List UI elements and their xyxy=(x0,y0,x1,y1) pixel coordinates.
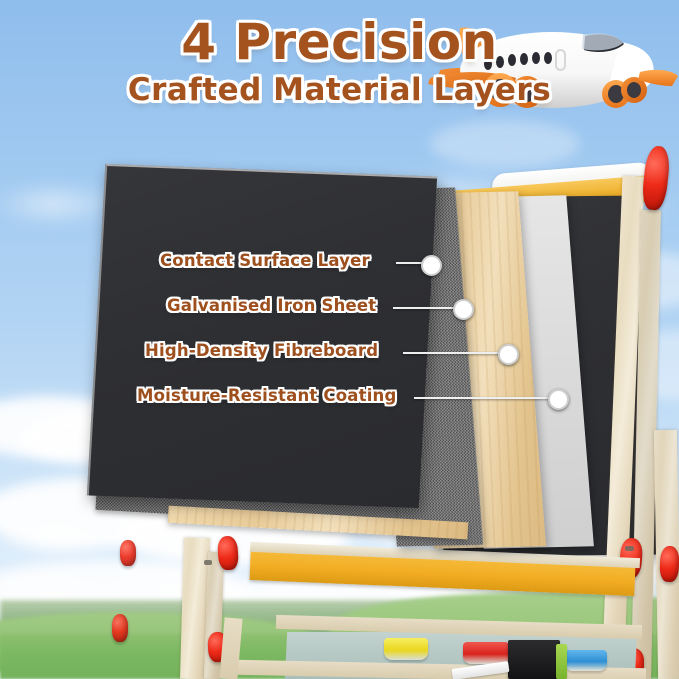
paint-pot-blue[interactable] xyxy=(565,650,607,671)
layer-contact-surface xyxy=(87,164,437,508)
callout-leader-2 xyxy=(393,307,458,309)
callout-dot-1[interactable] xyxy=(421,255,442,276)
screw-right-upper xyxy=(625,546,634,551)
callout-leader-3 xyxy=(403,352,503,354)
callout-label-1: Contact Surface Layer xyxy=(160,251,370,270)
callout-dot-4[interactable] xyxy=(548,389,569,410)
callout-label-4: Moisture-Resistant Coating xyxy=(137,386,397,405)
callout-leader-4 xyxy=(414,397,549,399)
headline-line-2: Crafted Material Layers xyxy=(0,70,679,110)
easel-knob-outer-right[interactable] xyxy=(659,546,679,583)
headline-block: 4 Precision Crafted Material Layers xyxy=(0,0,679,110)
callout-dot-3[interactable] xyxy=(498,344,519,365)
eraser-grip xyxy=(556,644,567,679)
callout-dot-2[interactable] xyxy=(453,299,474,320)
easel-knob-upper-left[interactable] xyxy=(120,540,136,566)
infographic-scene: Contact Surface Layer Galvanised Iron Sh… xyxy=(0,0,679,679)
eraser[interactable] xyxy=(508,640,560,679)
screw-left-upper xyxy=(204,560,212,565)
callout-label-2: Galvanised Iron Sheet xyxy=(167,296,376,315)
easel-knob-far-left[interactable] xyxy=(112,614,128,642)
paint-pot-red[interactable] xyxy=(463,642,509,664)
paint-pot-yellow[interactable] xyxy=(384,638,428,660)
callout-label-3: High-Density Fibreboard xyxy=(145,341,378,360)
headline-line-1: 4 Precision xyxy=(0,0,679,70)
